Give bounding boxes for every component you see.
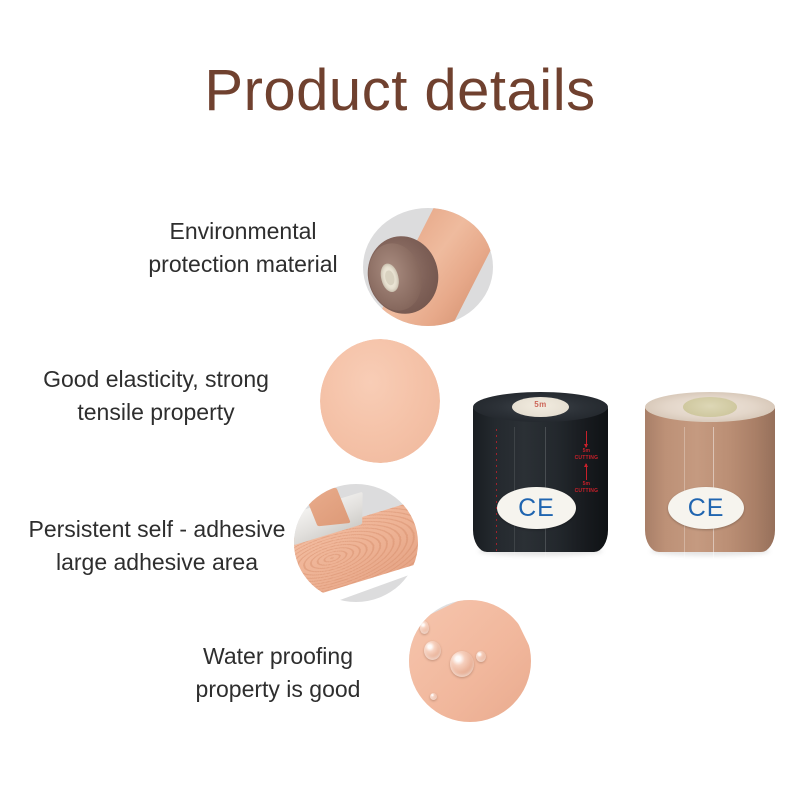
product-roll-black: 5m CUTTING 5m CUTTING CE 5m (473, 392, 608, 552)
tape-roll-core (378, 262, 402, 294)
product-roll-beige: CE (645, 392, 775, 552)
roll-measurement-markings: 5m CUTTING 5m CUTTING (569, 429, 604, 555)
feature-image-self-adhesive (294, 484, 418, 602)
marking-text: 5m (569, 481, 604, 487)
marking-arrow-up-icon (586, 464, 587, 480)
photo-background (294, 484, 418, 602)
ce-certification-label: CE (668, 487, 743, 529)
photo-background (363, 208, 493, 326)
feature-label-environmental-protection: Environmental protection material (108, 215, 378, 280)
marking-text: CUTTING (569, 488, 604, 494)
product-details-page: Product details Environmental protection… (0, 0, 800, 800)
water-droplet (420, 621, 429, 634)
roll-ruler-stripe (496, 429, 497, 555)
marking-text: CUTTING (569, 455, 604, 461)
photo-background (409, 600, 531, 722)
ce-mark-text: CE (688, 496, 725, 521)
feature-image-waterproof (409, 600, 531, 722)
ce-mark-text: CE (518, 496, 555, 521)
water-droplet (430, 693, 437, 700)
roll-core: 5m (512, 397, 569, 417)
feature-label-self-adhesive: Persistent self - adhesive large adhesiv… (2, 513, 312, 578)
page-title: Product details (0, 58, 800, 125)
ce-certification-label: CE (497, 487, 575, 529)
marking-text: 5m (569, 448, 604, 454)
feature-label-waterproof: Water proofing property is good (148, 640, 408, 705)
marking-arrow-down-icon (586, 431, 587, 447)
feature-image-environmental-protection (363, 208, 493, 326)
feature-image-elasticity (320, 339, 440, 463)
roll-body: CE (645, 405, 775, 552)
roll-body: 5m CUTTING 5m CUTTING CE (473, 405, 608, 552)
feature-label-elasticity: Good elasticity, strong tensile property (6, 363, 306, 428)
roll-core (683, 397, 738, 417)
roll-core-text: 5m (512, 400, 569, 409)
water-droplet (424, 641, 441, 660)
peach-tape-disc (320, 339, 440, 463)
tape-roll-core-hole (384, 270, 396, 287)
